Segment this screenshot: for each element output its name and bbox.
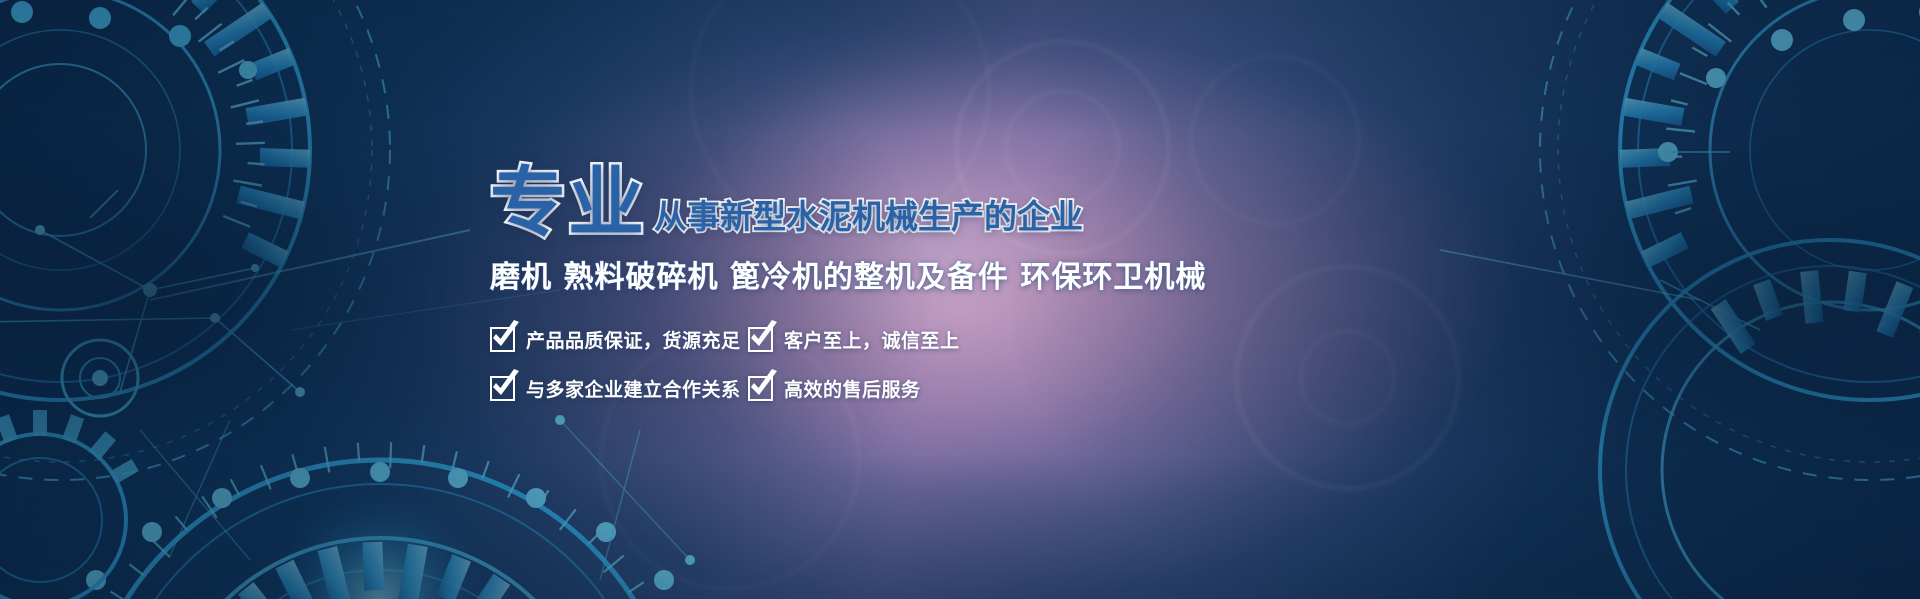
- feature-label: 产品品质保证，货源充足: [526, 326, 741, 353]
- feature-list: 产品品质保证，货源充足 客户至上，诚信至上 与多家企业建立合作关系: [490, 326, 1110, 402]
- checkbox-checked-icon: [490, 376, 515, 401]
- feature-item: 客户至上，诚信至上: [748, 326, 1110, 353]
- feature-label: 高效的售后服务: [784, 375, 921, 402]
- checkbox-checked-icon: [490, 327, 515, 352]
- headline-row: 专业 从事新型水泥机械生产的企业: [490, 160, 1110, 238]
- feature-label: 客户至上，诚信至上: [784, 326, 960, 353]
- feature-item: 高效的售后服务: [748, 375, 1110, 402]
- feature-item: 产品品质保证，货源充足: [490, 326, 748, 353]
- feature-label: 与多家企业建立合作关系: [526, 375, 741, 402]
- checkbox-checked-icon: [748, 327, 773, 352]
- product-subline: 磨机 熟料破碎机 篦冷机的整机及备件 环保环卫机械: [490, 252, 1110, 296]
- banner-copy-block: 专业 从事新型水泥机械生产的企业 磨机 熟料破碎机 篦冷机的整机及备件 环保环卫…: [490, 160, 1110, 402]
- headline-main: 专业: [490, 168, 646, 238]
- hero-banner: 专业 从事新型水泥机械生产的企业 磨机 熟料破碎机 篦冷机的整机及备件 环保环卫…: [0, 0, 1920, 599]
- feature-item: 与多家企业建立合作关系: [490, 375, 748, 402]
- checkbox-checked-icon: [748, 376, 773, 401]
- headline-tagline: 从事新型水泥机械生产的企业: [654, 200, 1083, 238]
